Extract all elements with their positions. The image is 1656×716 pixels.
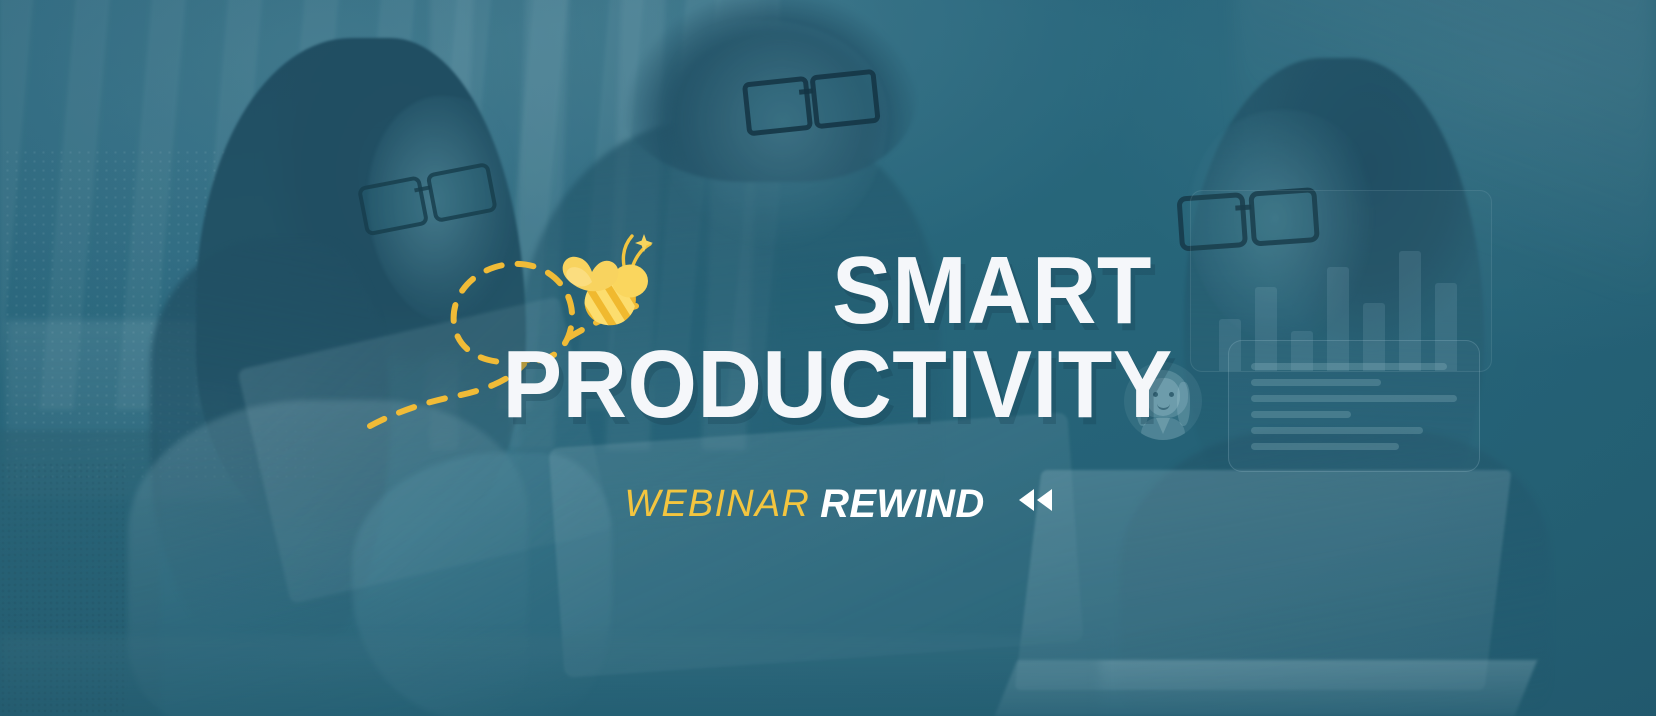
bee-icon (540, 232, 655, 337)
background-photo (0, 0, 1656, 716)
webinar-hero-banner: SMART PRODUCTIVITY WEBINARREWIND (0, 0, 1656, 716)
office-desk (0, 636, 1100, 716)
avatar (1124, 362, 1202, 440)
chat-message-card (1228, 340, 1480, 472)
